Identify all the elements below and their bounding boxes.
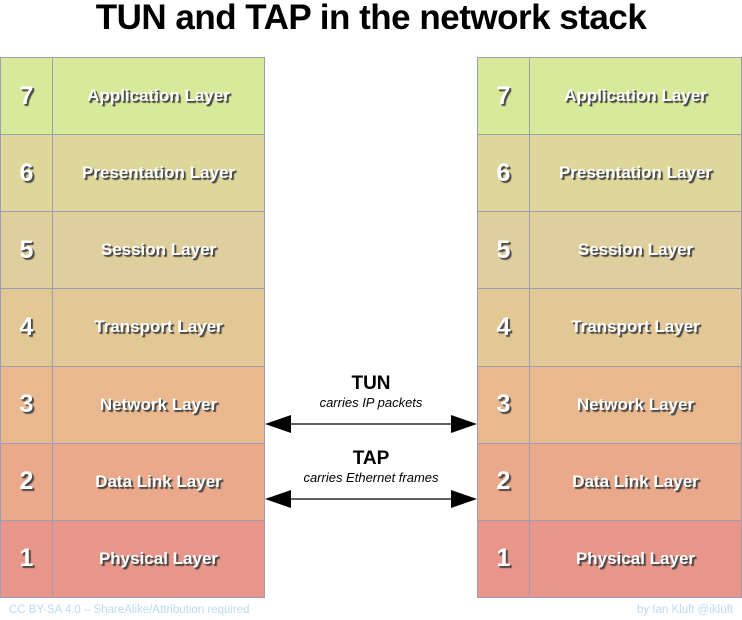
osi-layer-number: 6 xyxy=(1,135,53,211)
osi-layer-row-2: 2Data Link Layer xyxy=(478,444,741,521)
osi-layer-number: 7 xyxy=(1,58,53,134)
osi-layer-row-5: 5Session Layer xyxy=(1,212,264,289)
tap-title: TAP xyxy=(265,449,477,469)
osi-layer-name: Physical Layer xyxy=(53,521,264,597)
osi-layer-number: 3 xyxy=(478,367,530,443)
double-headed-arrow-icon xyxy=(265,489,477,509)
osi-layer-row-3: 3Network Layer xyxy=(1,367,264,444)
tun-tunnel-group: TUN carries IP packets xyxy=(265,374,477,434)
tun-title: TUN xyxy=(265,374,477,394)
tap-subtitle: carries Ethernet frames xyxy=(265,470,477,486)
osi-layer-name: Network Layer xyxy=(53,367,264,443)
osi-layer-name: Application Layer xyxy=(530,58,741,134)
osi-layer-row-4: 4Transport Layer xyxy=(1,289,264,366)
tun-subtitle: carries IP packets xyxy=(265,395,477,411)
osi-layer-row-1: 1Physical Layer xyxy=(1,521,264,597)
osi-layer-row-3: 3Network Layer xyxy=(478,367,741,444)
tunnel-center-panel: TUN carries IP packets TAP carries Ether… xyxy=(265,57,477,598)
osi-layer-number: 2 xyxy=(478,444,530,520)
osi-layer-name: Session Layer xyxy=(53,212,264,288)
osi-layer-name: Data Link Layer xyxy=(53,444,264,520)
osi-layer-number: 4 xyxy=(478,289,530,365)
left-osi-stack: 7Application Layer6Presentation Layer5Se… xyxy=(0,57,265,598)
osi-layer-number: 5 xyxy=(478,212,530,288)
osi-layer-row-4: 4Transport Layer xyxy=(478,289,741,366)
osi-layer-number: 4 xyxy=(1,289,53,365)
tap-tunnel-group: TAP carries Ethernet frames xyxy=(265,449,477,509)
osi-layer-row-2: 2Data Link Layer xyxy=(1,444,264,521)
osi-layer-name: Data Link Layer xyxy=(530,444,741,520)
osi-layer-row-6: 6Presentation Layer xyxy=(1,135,264,212)
page-title: TUN and TAP in the network stack xyxy=(0,0,742,38)
osi-layer-number: 3 xyxy=(1,367,53,443)
double-headed-arrow-icon xyxy=(265,414,477,434)
osi-layer-row-7: 7Application Layer xyxy=(478,58,741,135)
osi-layer-name: Physical Layer xyxy=(530,521,741,597)
osi-layer-number: 1 xyxy=(1,521,53,597)
footer-license: CC BY-SA 4.0 – ShareAlike/Attribution re… xyxy=(9,604,250,616)
osi-layer-name: Session Layer xyxy=(530,212,741,288)
osi-layer-name: Network Layer xyxy=(530,367,741,443)
footer-credit: by Ian Kluft @ikluft xyxy=(637,604,733,616)
osi-layer-row-1: 1Physical Layer xyxy=(478,521,741,597)
tun-arrow xyxy=(265,414,477,434)
osi-layer-number: 6 xyxy=(478,135,530,211)
osi-layer-number: 2 xyxy=(1,444,53,520)
osi-layer-name: Presentation Layer xyxy=(53,135,264,211)
osi-layer-number: 1 xyxy=(478,521,530,597)
right-osi-stack: 7Application Layer6Presentation Layer5Se… xyxy=(477,57,742,598)
osi-layer-name: Presentation Layer xyxy=(530,135,741,211)
osi-layer-name: Transport Layer xyxy=(530,289,741,365)
osi-layer-name: Application Layer xyxy=(53,58,264,134)
osi-layer-row-7: 7Application Layer xyxy=(1,58,264,135)
osi-layer-name: Transport Layer xyxy=(53,289,264,365)
osi-layer-number: 7 xyxy=(478,58,530,134)
osi-layer-row-6: 6Presentation Layer xyxy=(478,135,741,212)
tap-arrow xyxy=(265,489,477,509)
osi-layer-number: 5 xyxy=(1,212,53,288)
osi-layer-row-5: 5Session Layer xyxy=(478,212,741,289)
